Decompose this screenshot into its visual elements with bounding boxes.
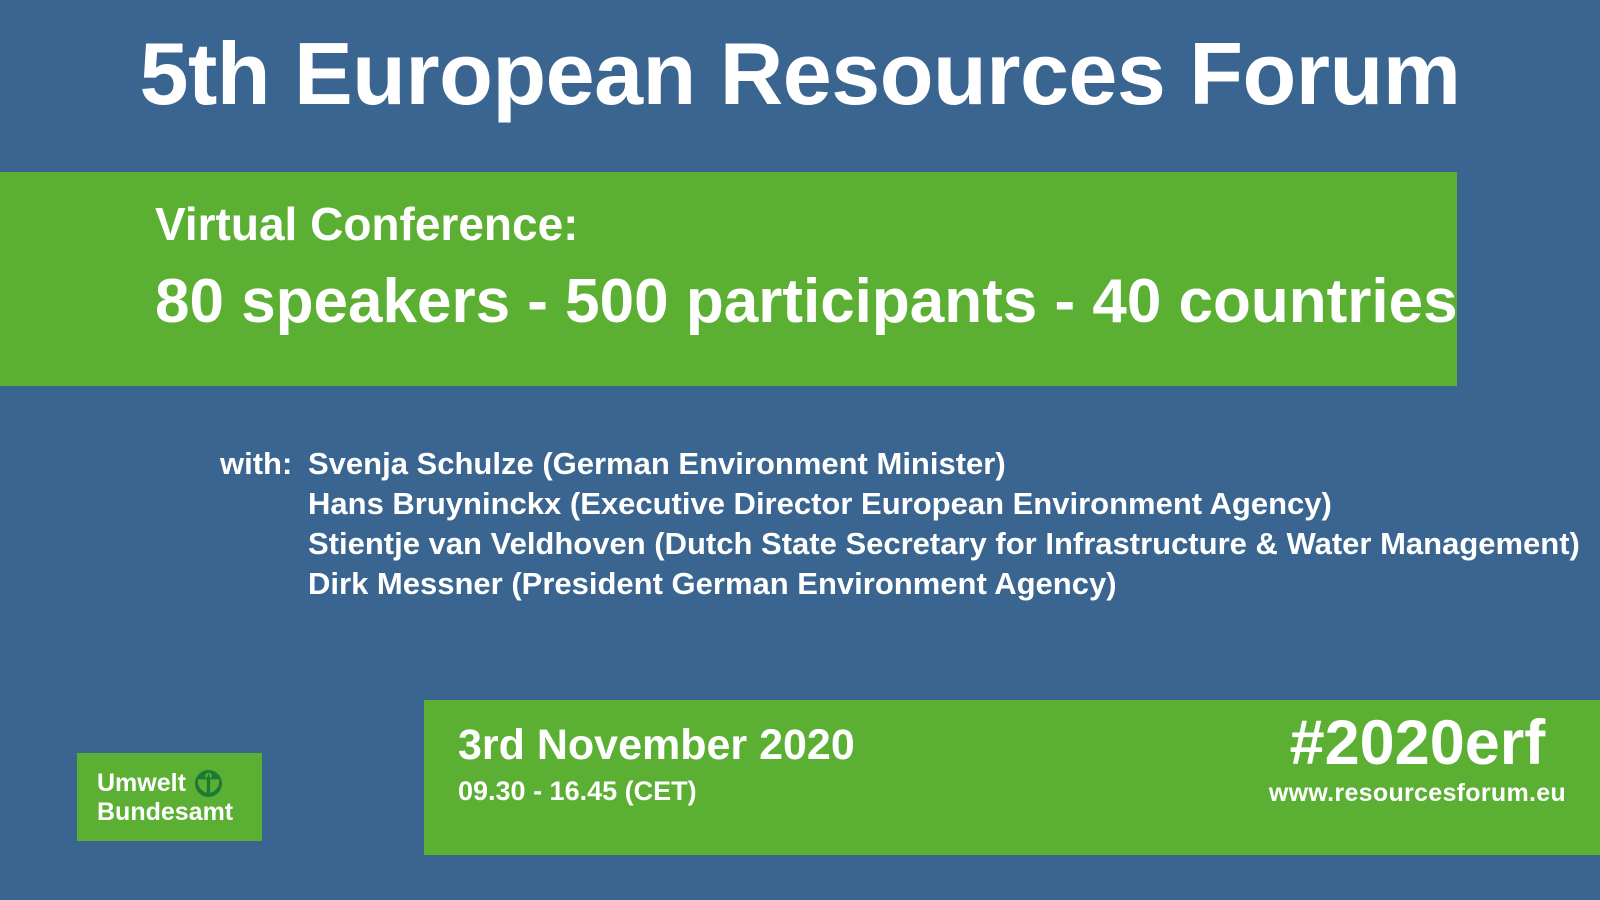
event-date-block: 3rd November 2020 09.30 - 16.45 (CET) <box>458 722 855 808</box>
speakers-section: with: Svenja Schulze (German Environment… <box>220 444 1580 604</box>
list-item: Stientje van Veldhoven (Dutch State Secr… <box>308 524 1580 564</box>
speaker-list: Svenja Schulze (German Environment Minis… <box>308 444 1580 604</box>
event-date: 3rd November 2020 <box>458 722 855 769</box>
logo-word-bundesamt: Bundesamt <box>97 798 233 827</box>
poster-canvas: 5th European Resources Forum Virtual Con… <box>0 0 1600 900</box>
event-hashtag: #2020erf <box>1269 710 1566 776</box>
hashtag-block: #2020erf www.resourcesforum.eu <box>1269 710 1566 808</box>
list-item: Dirk Messner (President German Environme… <box>308 564 1580 604</box>
umweltbundesamt-logo: Umwelt Bundesamt <box>77 753 262 841</box>
event-time: 09.30 - 16.45 (CET) <box>458 775 855 807</box>
footer-band: 3rd November 2020 09.30 - 16.45 (CET) #2… <box>424 700 1600 855</box>
virtual-conference-label: Virtual Conference: <box>155 198 1457 251</box>
list-item: Svenja Schulze (German Environment Minis… <box>308 444 1580 484</box>
speakers-row: with: Svenja Schulze (German Environment… <box>220 444 1580 604</box>
highlight-band-content: Virtual Conference: 80 speakers - 500 pa… <box>155 198 1457 338</box>
list-item: Hans Bruyninckx (Executive Director Euro… <box>308 484 1580 524</box>
event-website[interactable]: www.resourcesforum.eu <box>1269 778 1566 808</box>
logo-word-umwelt: Umwelt <box>97 769 186 798</box>
umweltbundesamt-emblem-icon <box>195 770 222 797</box>
page-title: 5th European Resources Forum <box>0 28 1600 120</box>
conference-stats: 80 speakers - 500 participants - 40 coun… <box>155 265 1457 338</box>
highlight-band: Virtual Conference: 80 speakers - 500 pa… <box>0 172 1457 386</box>
logo-line-one: Umwelt <box>97 769 233 798</box>
with-label: with: <box>220 444 308 484</box>
logo-content: Umwelt Bundesamt <box>97 769 233 827</box>
